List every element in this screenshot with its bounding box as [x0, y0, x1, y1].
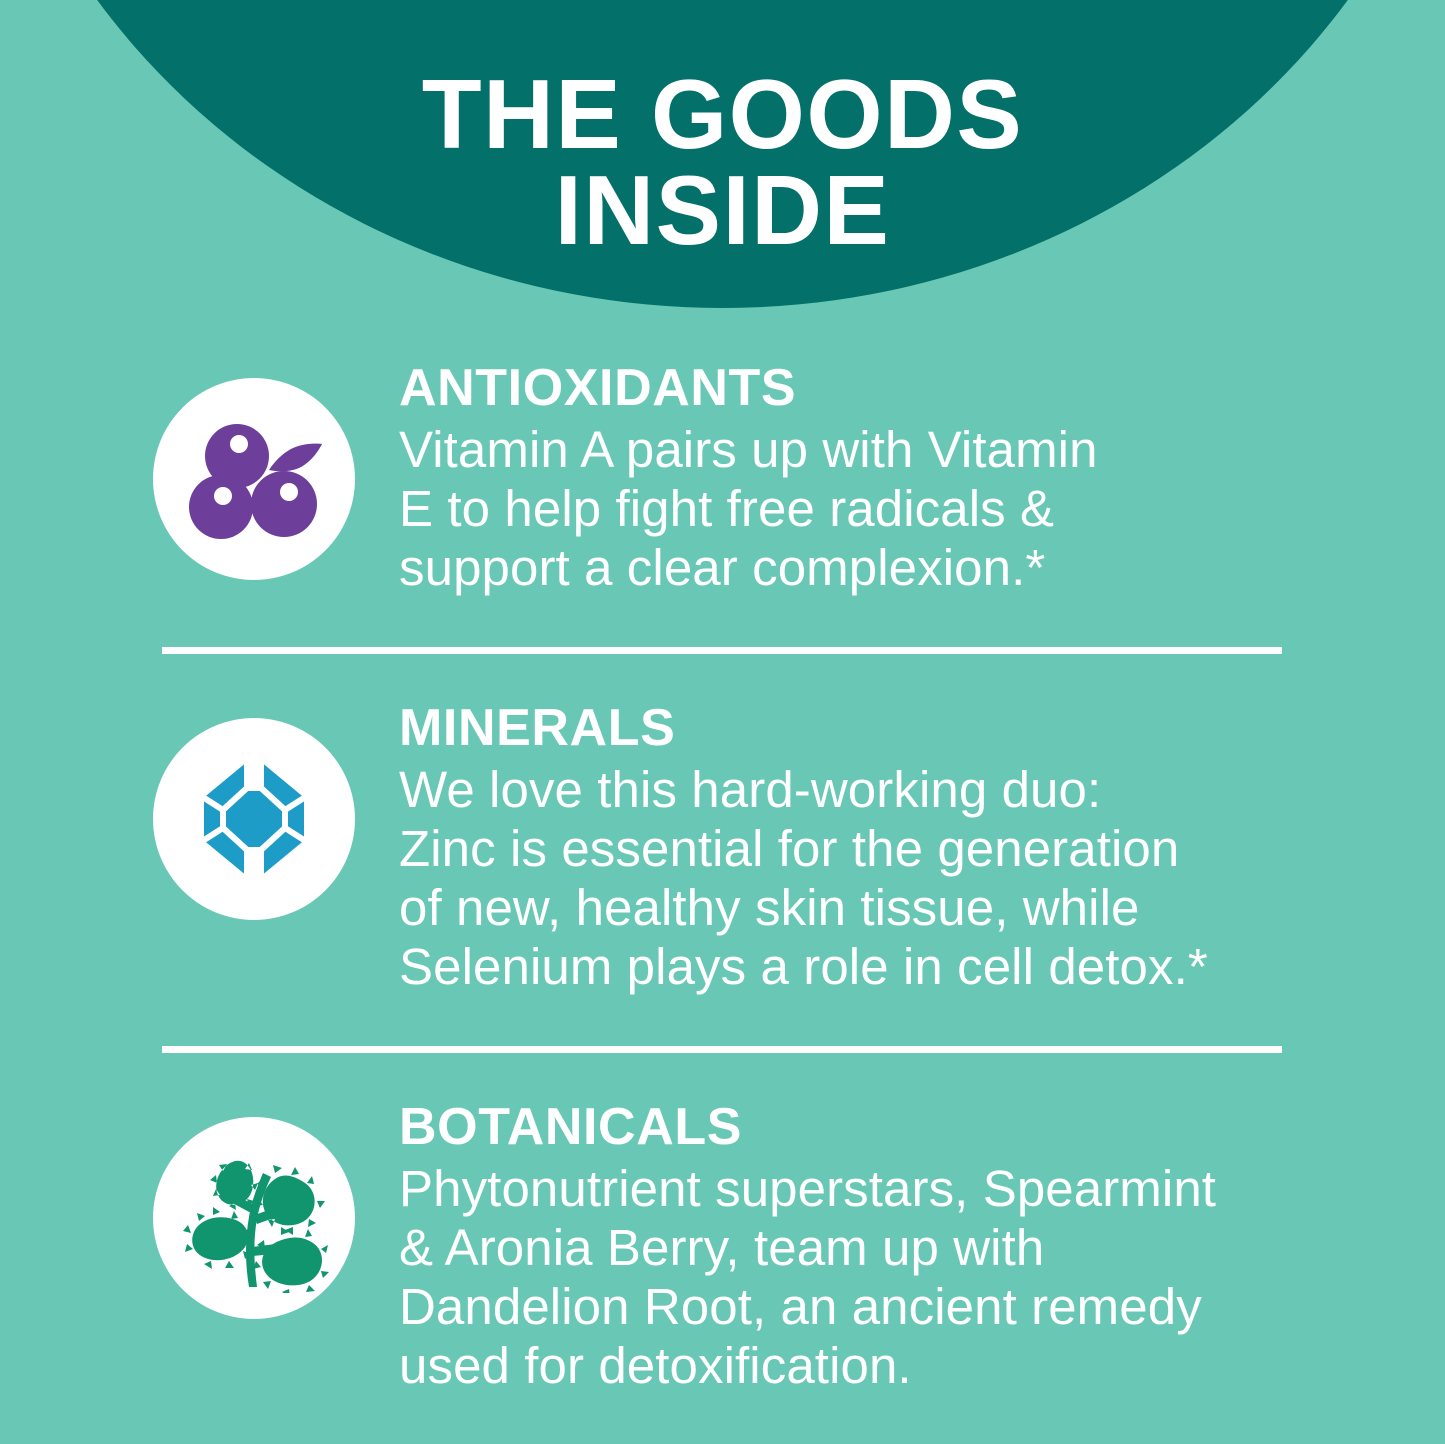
sections-list: ANTIOXIDANTS Vitamin A pairs up with Vit… [0, 360, 1445, 1395]
section-minerals-body: We love this hard-working duo: Zinc is e… [399, 760, 1375, 996]
gem-icon [153, 718, 355, 920]
section-botanicals-title: BOTANICALS [399, 1099, 1375, 1155]
section-botanicals-body: Phytonutrient superstars, Spearmint & Ar… [399, 1159, 1375, 1395]
section-minerals: MINERALS We love this hard-working duo: … [0, 700, 1445, 996]
section-minerals-title: MINERALS [399, 700, 1375, 756]
section-antioxidants-body: Vitamin A pairs up with Vitamin E to hel… [399, 420, 1375, 597]
section-antioxidants: ANTIOXIDANTS Vitamin A pairs up with Vit… [0, 360, 1445, 597]
blueberries-icon [153, 378, 355, 580]
page-title: THE GOODS INSIDE [0, 66, 1445, 258]
section-antioxidants-text: ANTIOXIDANTS Vitamin A pairs up with Vit… [355, 360, 1445, 597]
section-botanicals-text: BOTANICALS Phytonutrient superstars, Spe… [355, 1099, 1445, 1395]
spacer [0, 1053, 1445, 1099]
spacer [0, 654, 1445, 700]
ingredient-highlights-poster: THE GOODS INSIDE [0, 0, 1445, 1444]
section-minerals-text: MINERALS We love this hard-working duo: … [355, 700, 1445, 996]
mint-leaf-icon [153, 1117, 355, 1319]
section-divider-1 [162, 647, 1282, 654]
spacer [0, 597, 1445, 647]
section-botanicals: BOTANICALS Phytonutrient superstars, Spe… [0, 1099, 1445, 1395]
section-divider-2 [162, 1046, 1282, 1053]
section-antioxidants-title: ANTIOXIDANTS [399, 360, 1375, 416]
spacer [0, 996, 1445, 1046]
